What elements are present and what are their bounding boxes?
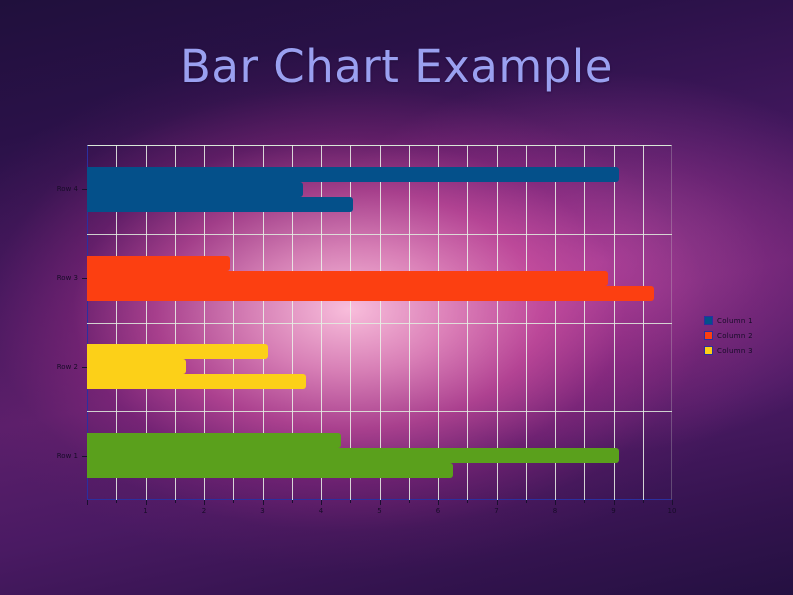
horizontal-gridline — [87, 323, 672, 324]
x-axis-tick — [438, 500, 439, 505]
bar-row-2-column-1 — [87, 344, 268, 359]
legend-item-column-3[interactable]: Column 3 — [704, 346, 753, 355]
x-axis-minor-tick — [584, 500, 585, 503]
bar-row-3-column-3 — [87, 286, 654, 301]
legend-item-column-1[interactable]: Column 1 — [704, 316, 753, 325]
x-axis-tick — [614, 500, 615, 505]
x-axis-minor-tick — [116, 500, 117, 503]
x-axis-label: 9 — [611, 507, 615, 515]
x-axis-label: 8 — [553, 507, 557, 515]
legend-swatch-icon — [704, 316, 713, 325]
x-axis-label: 5 — [377, 507, 381, 515]
horizontal-gridline — [87, 411, 672, 412]
page-title: Bar Chart Example — [0, 40, 793, 93]
bar-row-1-column-3 — [87, 463, 453, 478]
x-axis-minor-tick — [292, 500, 293, 503]
x-axis-tick — [555, 500, 556, 505]
legend-swatch-icon — [704, 346, 713, 355]
x-axis-label: 7 — [494, 507, 498, 515]
bar-row-4-column-2 — [87, 182, 303, 197]
bar-row-4-column-3 — [87, 197, 353, 212]
y-axis-label-row-1: Row 1 — [0, 452, 78, 460]
x-axis-label: 6 — [436, 507, 440, 515]
y-axis-label-row-4: Row 4 — [0, 185, 78, 193]
x-axis-tick — [497, 500, 498, 505]
x-axis-tick — [87, 500, 88, 505]
bar-row-2-column-3 — [87, 374, 306, 389]
y-axis-label-row-3: Row 3 — [0, 274, 78, 282]
x-axis-tick — [204, 500, 205, 505]
x-axis-tick — [672, 500, 673, 505]
legend-label: Column 3 — [717, 347, 753, 355]
x-axis-label: 1 — [143, 507, 147, 515]
x-axis-minor-tick — [467, 500, 468, 503]
x-axis-minor-tick — [409, 500, 410, 503]
bar-row-1-column-1 — [87, 433, 341, 448]
slide-canvas: Bar Chart Example 12345678910 Row 1Row 2… — [0, 0, 793, 595]
x-axis-tick — [321, 500, 322, 505]
y-axis-tick — [82, 278, 87, 279]
x-axis-minor-tick — [350, 500, 351, 503]
y-axis-tick — [82, 189, 87, 190]
bar-row-4-column-1 — [87, 167, 619, 182]
x-axis-tick — [146, 500, 147, 505]
bar-row-2-column-2 — [87, 359, 186, 374]
x-axis-tick — [380, 500, 381, 505]
legend-item-column-2[interactable]: Column 2 — [704, 331, 753, 340]
x-axis-label: 4 — [319, 507, 323, 515]
x-axis-label: 2 — [202, 507, 206, 515]
x-axis-minor-tick — [643, 500, 644, 503]
horizontal-gridline — [87, 234, 672, 235]
legend-label: Column 1 — [717, 317, 753, 325]
legend-swatch-icon — [704, 331, 713, 340]
x-axis-tick — [263, 500, 264, 505]
x-axis-label: 3 — [260, 507, 264, 515]
x-axis-minor-tick — [233, 500, 234, 503]
bar-row-3-column-1 — [87, 256, 230, 271]
chart-plot-area — [87, 145, 672, 500]
x-axis-minor-tick — [526, 500, 527, 503]
bar-row-3-column-2 — [87, 271, 608, 286]
bar-row-1-column-2 — [87, 448, 619, 463]
y-axis-label-row-2: Row 2 — [0, 363, 78, 371]
x-axis-minor-tick — [175, 500, 176, 503]
legend-label: Column 2 — [717, 332, 753, 340]
y-axis-tick — [82, 367, 87, 368]
chart-legend: Column 1Column 2Column 3 — [704, 316, 753, 355]
y-axis-tick — [82, 456, 87, 457]
x-axis-label: 10 — [668, 507, 677, 515]
